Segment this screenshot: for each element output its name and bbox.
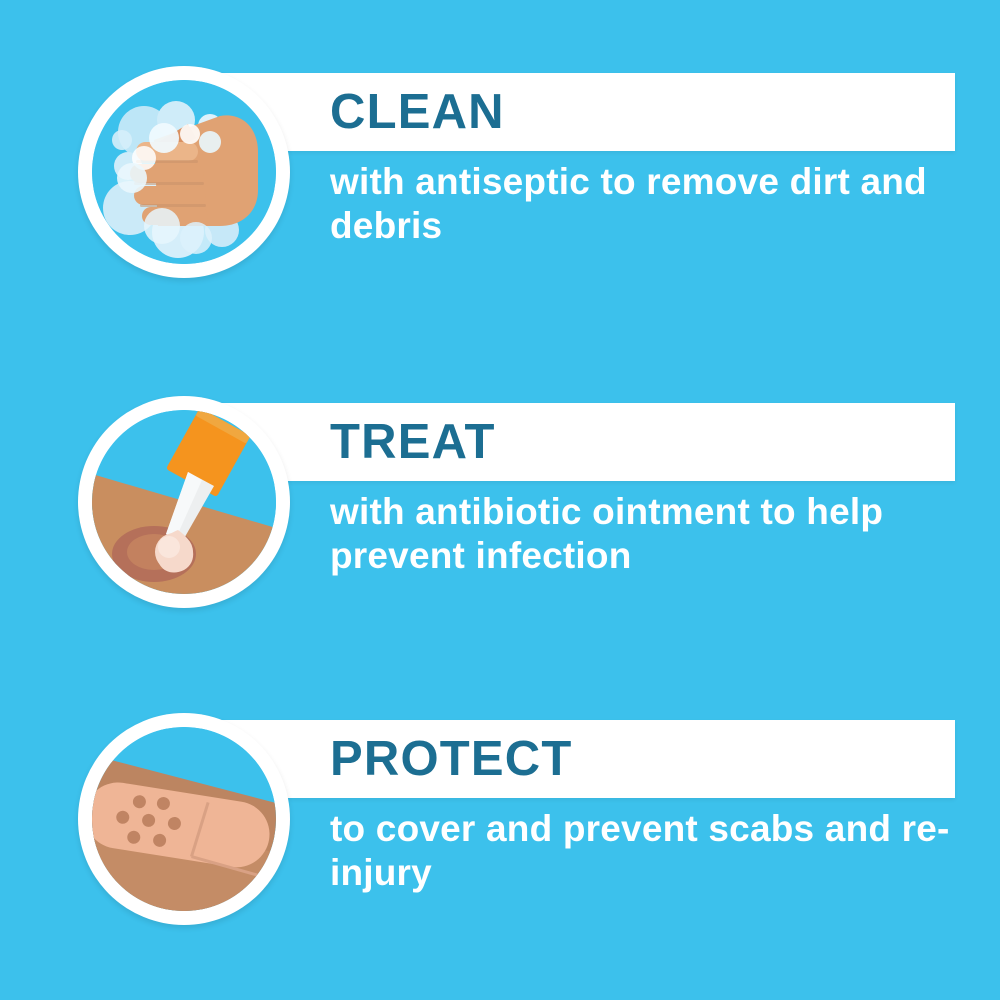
step-icon-circle xyxy=(78,66,290,278)
washing-hands-icon xyxy=(92,80,276,264)
step-title: TREAT xyxy=(330,411,496,473)
step-title: CLEAN xyxy=(330,81,505,143)
step-icon-circle xyxy=(78,713,290,925)
step-icon-circle xyxy=(78,396,290,608)
ointment-tube-icon xyxy=(92,410,276,594)
step-description: with antibiotic ointment to help prevent… xyxy=(330,490,970,578)
step-title: PROTECT xyxy=(330,728,573,790)
wound-care-infographic: CLEAN xyxy=(0,0,1000,1000)
adhesive-bandage-icon xyxy=(92,727,276,911)
step-description: to cover and prevent scabs and re-injury xyxy=(330,807,970,895)
step-description: with antiseptic to remove dirt and debri… xyxy=(330,160,970,248)
